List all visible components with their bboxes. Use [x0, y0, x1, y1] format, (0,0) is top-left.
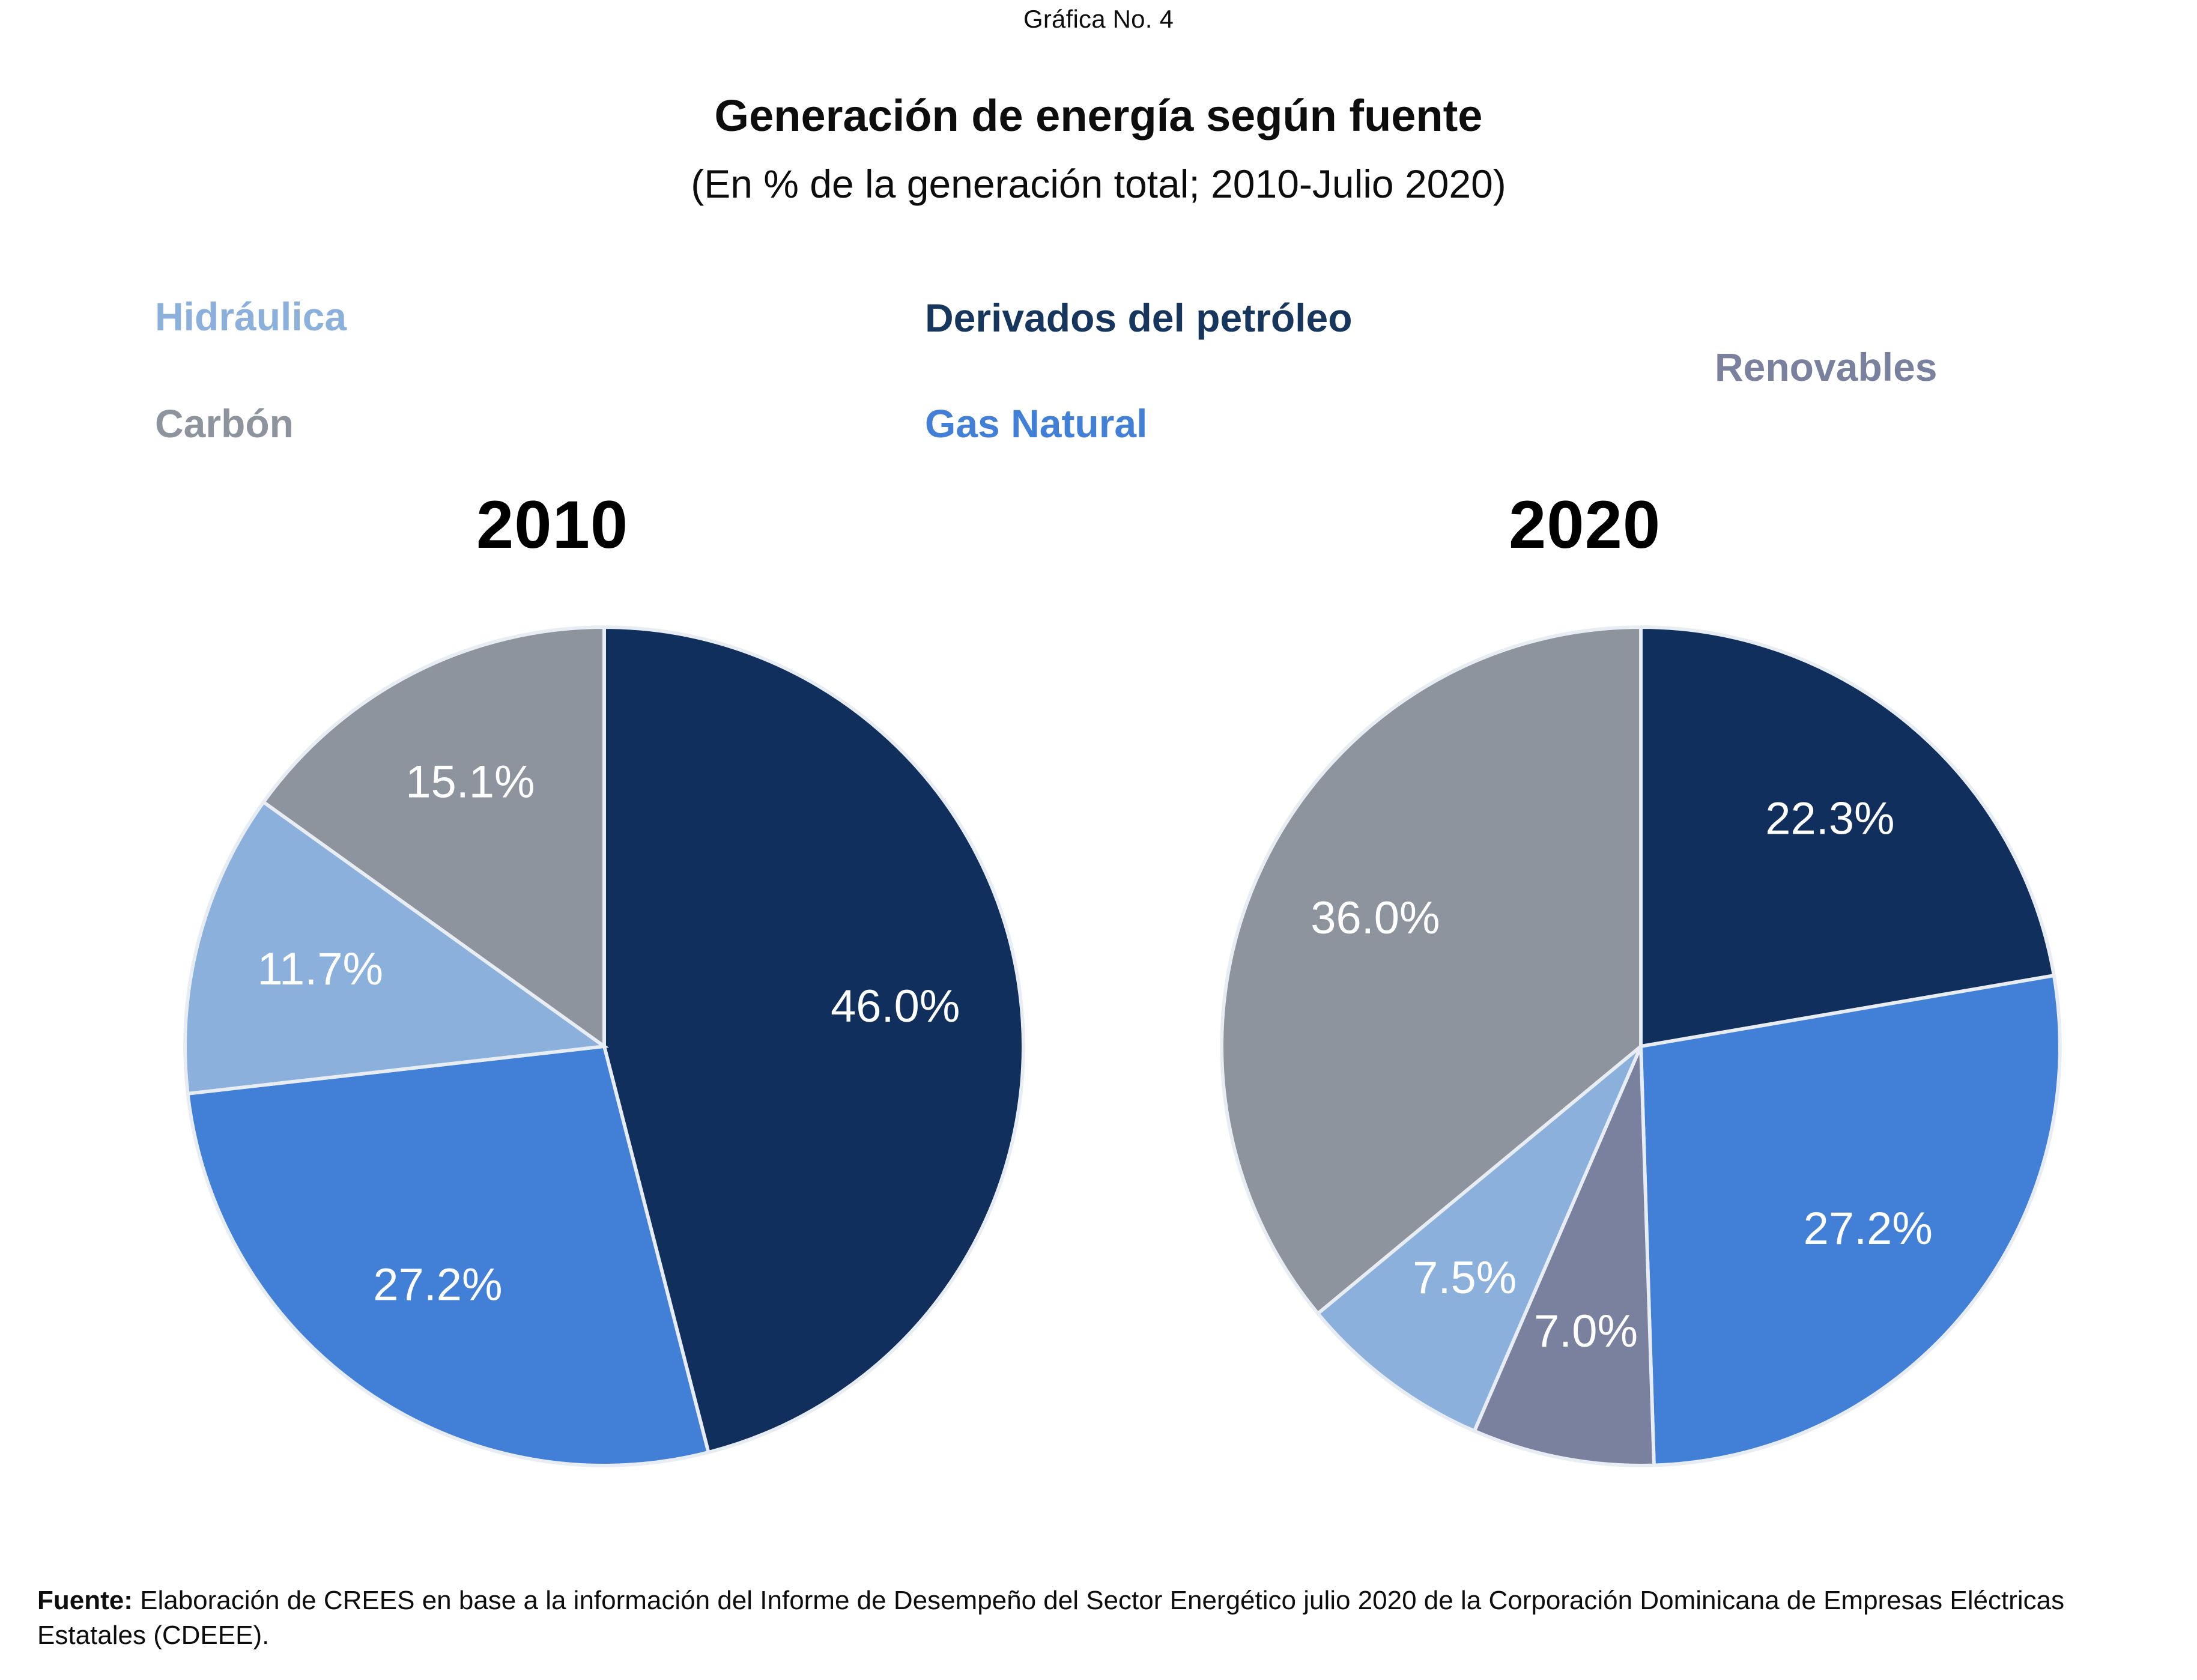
legend-item-gas-natural: Gas Natural [925, 404, 1147, 443]
legend-item-carbon: Carbón [155, 404, 294, 443]
panel-title-2020: 2020 [1509, 491, 1661, 559]
panel-title-2010: 2010 [476, 491, 628, 559]
pie-slice-label: 7.5% [1413, 1252, 1517, 1303]
legend-item-derivados-del-petroleo: Derivados del petróleo [925, 298, 1353, 338]
pie-slice-label: 46.0% [831, 981, 960, 1032]
pie-slice-label: 27.2% [373, 1259, 502, 1310]
figure-number: Gráfica No. 4 [0, 5, 2197, 34]
chart-title: Generación de energía según fuente [0, 90, 2197, 141]
pie-slice-label: 11.7% [257, 944, 383, 995]
legend-item-renovables: Renovables [1715, 347, 1937, 387]
source-note: Fuente: Elaboración de CREES en base a l… [37, 1583, 2175, 1653]
pie-chart-2010: 46.0%27.2%11.7%15.1% [166, 608, 1043, 1485]
pie-svg-2010: 46.0%27.2%11.7%15.1% [166, 608, 1043, 1485]
chart-subtitle: (En % de la generación total; 2010-Julio… [0, 161, 2197, 207]
pie-slice-label: 15.1% [405, 756, 535, 807]
pie-slice-label: 7.0% [1534, 1306, 1638, 1357]
pie-chart-2020: 22.3%27.2%7.0%7.5%36.0% [1202, 608, 2079, 1485]
source-label: Fuente: [37, 1586, 133, 1615]
legend-item-hidraulica: Hidráulica [155, 297, 347, 336]
pie-svg-2020: 22.3%27.2%7.0%7.5%36.0% [1202, 608, 2079, 1485]
pie-slice-label: 22.3% [1765, 793, 1894, 845]
pie-slice-label: 36.0% [1311, 893, 1440, 944]
source-text: Elaboración de CREES en base a la inform… [37, 1586, 2064, 1650]
pie-slice-label: 27.2% [1804, 1203, 1933, 1254]
